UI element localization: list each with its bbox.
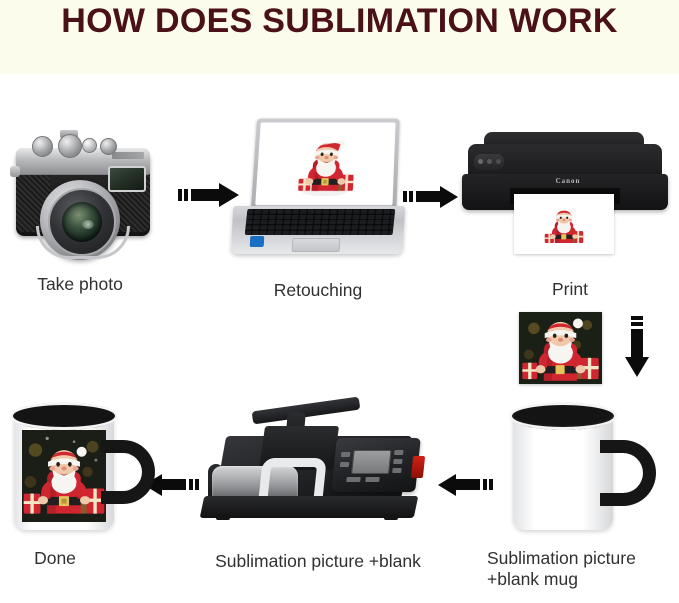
printer-output-paper — [514, 194, 614, 254]
step-label-retouching: Retouching — [232, 280, 404, 301]
infographic-page: HOW DOES SUBLIMATION WORK Take photo — [0, 0, 679, 603]
blank-mug-rim — [509, 402, 617, 430]
heat-press-button-set — [346, 477, 361, 482]
arrow-camera-to-laptop — [178, 182, 240, 208]
santa-artwork-on-mug — [22, 430, 106, 522]
finished-mug-rim — [10, 402, 118, 430]
arrow-mug-to-press — [437, 473, 493, 497]
printer-button-mono — [487, 159, 492, 164]
heat-press-lcd-display — [351, 450, 392, 474]
heat-press-indicator-ready — [392, 468, 402, 473]
camera-dial-left — [32, 136, 53, 157]
heat-press-foot-left — [216, 514, 230, 520]
step-label-heat-press: Sublimation picture +blank — [178, 551, 458, 572]
page-title: HOW DOES SUBLIMATION WORK — [0, 2, 679, 41]
laptop-illustration — [232, 118, 404, 258]
heat-press-button-down — [340, 462, 350, 467]
step-label-done: Done — [0, 548, 110, 569]
printer-power-button — [478, 159, 483, 164]
heat-press-lever-arm — [252, 397, 361, 425]
step-label-blank-mug: Sublimation picture +blank mug — [487, 548, 679, 590]
laptop-screen — [255, 122, 395, 205]
heat-press-button-up — [341, 452, 351, 457]
printer-illustration: Canon — [462, 132, 668, 257]
camera-dial-shutter-speed — [58, 134, 82, 158]
printer-brand-logo: Canon — [545, 176, 591, 185]
camera-brand-plate — [112, 152, 144, 159]
arrow-printer-to-transfer — [624, 316, 650, 378]
laptop-keyboard — [245, 209, 396, 235]
camera-strap-lug — [10, 166, 20, 177]
camera-shutter-button — [82, 138, 97, 153]
heat-press-indicator-heat — [393, 459, 403, 464]
laptop-lid — [251, 119, 400, 211]
arrow-laptop-to-printer — [403, 185, 459, 209]
step-label-take-photo: Take photo — [0, 274, 160, 295]
sublimation-transfer-print — [519, 312, 602, 384]
santa-artwork-on-paper — [524, 199, 604, 249]
santa-artwork-on-screen — [277, 127, 373, 200]
finished-mug-handle — [101, 440, 155, 504]
finished-mug-illustration — [8, 398, 158, 534]
step-label-print: Print — [490, 279, 650, 300]
camera-lens-hood — [36, 226, 130, 259]
heat-press-control-panel — [331, 438, 421, 492]
heat-press-power-switch — [411, 456, 425, 478]
mug-heat-press-illustration — [198, 400, 438, 535]
laptop-badge-sticker — [250, 236, 265, 247]
camera-illustration — [8, 122, 158, 257]
printer-button-color — [496, 159, 501, 164]
camera-viewfinder — [108, 166, 146, 192]
laptop-trackpad — [292, 238, 341, 252]
blank-mug-handle — [600, 440, 656, 506]
heat-press-button-mode — [365, 477, 380, 482]
heat-press-foot-right — [384, 514, 398, 520]
blank-mug-illustration — [505, 398, 665, 534]
heat-press-indicator-power — [394, 450, 404, 455]
